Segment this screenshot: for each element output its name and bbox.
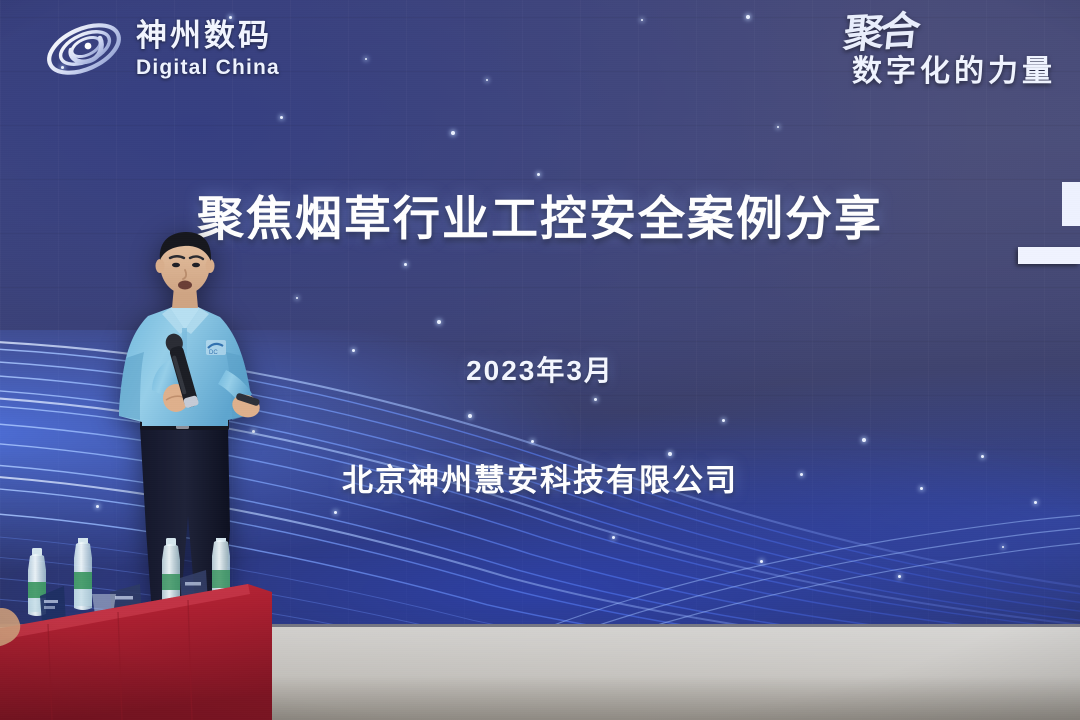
digital-china-swirl-icon: [44, 16, 124, 82]
photo-canvas: 神州数码 Digital China 聚合 数字化的力量 聚焦烟草行业工控安全案…: [0, 0, 1080, 720]
digital-china-logo-lockup: 神州数码 Digital China: [44, 16, 280, 82]
event-calligraphy-mark: 聚合: [842, 12, 919, 54]
brand-name-english: Digital China: [136, 57, 280, 78]
brand-name-chinese: 神州数码: [136, 20, 280, 51]
backdrop-edge-glyph-upper: [1062, 182, 1080, 226]
event-logo-lockup: 聚合 数字化的力量: [844, 14, 1056, 90]
digital-china-wordmark: 神州数码 Digital China: [136, 20, 280, 78]
head-table: [0, 584, 272, 720]
backdrop-edge-glyph-lower: [1018, 247, 1080, 264]
svg-text:DC: DC: [209, 350, 218, 356]
